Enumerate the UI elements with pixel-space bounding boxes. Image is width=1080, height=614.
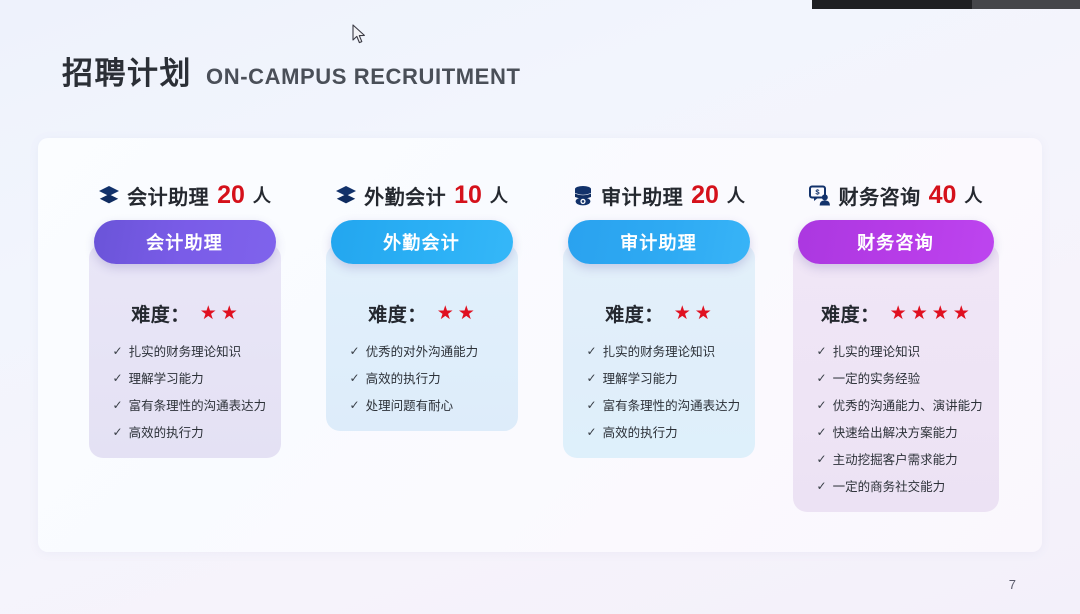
check-icon: ✓ bbox=[817, 398, 827, 413]
role-card[interactable]: 会计助理 难度： ★ ★ ✓ 扎实的财务理论知识 ✓ 理解学习能力 ✓ bbox=[89, 244, 281, 458]
column-heading-count: 40 bbox=[929, 181, 957, 210]
star-icon: ★ bbox=[890, 304, 907, 323]
star-icon: ★ bbox=[911, 304, 928, 323]
column-heading: $ 财务咨询 40 人 bbox=[809, 180, 983, 210]
check-icon: ✓ bbox=[113, 371, 123, 386]
role-card[interactable]: 外勤会计 难度： ★ ★ ✓ 优秀的对外沟通能力 ✓ 高效的执行力 ✓ bbox=[326, 244, 518, 431]
recruitment-columns: 会计助理 20 人 会计助理 难度： ★ ★ ✓ 扎实的财务理论知识 ✓ bbox=[38, 138, 1042, 552]
difficulty-stars: ★ ★ bbox=[437, 304, 475, 323]
list-item-label: 富有条理性的沟通表达力 bbox=[603, 398, 741, 413]
check-icon: ✓ bbox=[817, 479, 827, 494]
requirement-list: ✓ 扎实的财务理论知识 ✓ 理解学习能力 ✓ 富有条理性的沟通表达力 ✓ 高效的… bbox=[103, 344, 267, 442]
list-item-label: 优秀的对外沟通能力 bbox=[366, 344, 479, 359]
list-item-label: 一定的实务经验 bbox=[833, 371, 921, 386]
role-pill-badge[interactable]: 财务咨询 bbox=[798, 220, 994, 264]
list-item: ✓ 高效的执行力 bbox=[587, 425, 741, 440]
layers-stack-icon bbox=[335, 185, 357, 205]
list-item: ✓ 富有条理性的沟通表达力 bbox=[113, 398, 267, 413]
difficulty-row: 难度： ★ ★ ★ ★ bbox=[821, 300, 970, 326]
recruitment-column-finance-consulting[interactable]: $ 财务咨询 40 人 财务咨询 难度： ★ ★ ★ ★ bbox=[777, 138, 1014, 552]
role-pill-badge[interactable]: 审计助理 bbox=[568, 220, 750, 264]
star-icon: ★ bbox=[437, 304, 454, 323]
difficulty-label: 难度： bbox=[131, 300, 190, 327]
requirement-list: ✓ 扎实的财务理论知识 ✓ 理解学习能力 ✓ 富有条理性的沟通表达力 ✓ 高效的… bbox=[577, 344, 741, 442]
check-icon: ✓ bbox=[817, 425, 827, 440]
check-icon: ✓ bbox=[817, 452, 827, 467]
difficulty-stars: ★ ★ bbox=[674, 304, 712, 323]
list-item-label: 扎实的财务理论知识 bbox=[603, 344, 716, 359]
list-item-label: 理解学习能力 bbox=[603, 371, 678, 386]
difficulty-label: 难度： bbox=[821, 300, 880, 327]
star-icon: ★ bbox=[674, 304, 691, 323]
role-pill-badge[interactable]: 会计助理 bbox=[94, 220, 276, 264]
list-item: ✓ 理解学习能力 bbox=[113, 371, 267, 386]
list-item-label: 扎实的财务理论知识 bbox=[129, 344, 242, 359]
list-item: ✓ 高效的执行力 bbox=[113, 425, 267, 440]
list-item: ✓ 富有条理性的沟通表达力 bbox=[587, 398, 741, 413]
star-icon: ★ bbox=[932, 304, 949, 323]
column-heading-label: 审计助理 bbox=[601, 181, 683, 210]
window-chrome-strip bbox=[0, 0, 1080, 9]
mouse-cursor-icon bbox=[352, 24, 368, 46]
column-heading-unit: 人 bbox=[490, 182, 508, 208]
list-item-label: 高效的执行力 bbox=[129, 425, 204, 440]
list-item-label: 高效的执行力 bbox=[603, 425, 678, 440]
star-icon: ★ bbox=[953, 304, 970, 323]
check-icon: ✓ bbox=[817, 344, 827, 359]
list-item: ✓ 处理问题有耐心 bbox=[350, 398, 504, 413]
column-heading-count: 10 bbox=[454, 181, 482, 210]
recruitment-column-accounting-assistant[interactable]: 会计助理 20 人 会计助理 难度： ★ ★ ✓ 扎实的财务理论知识 ✓ bbox=[66, 138, 303, 552]
list-item-label: 一定的商务社交能力 bbox=[833, 479, 946, 494]
check-icon: ✓ bbox=[350, 344, 360, 359]
check-icon: ✓ bbox=[350, 398, 360, 413]
column-heading-unit: 人 bbox=[964, 182, 982, 208]
list-item: ✓ 扎实的财务理论知识 bbox=[113, 344, 267, 359]
difficulty-row: 难度： ★ ★ bbox=[131, 300, 238, 326]
star-icon: ★ bbox=[200, 304, 217, 323]
list-item: ✓ 一定的商务社交能力 bbox=[817, 479, 985, 494]
chrome-segment-dark bbox=[812, 0, 972, 9]
check-icon: ✓ bbox=[113, 425, 123, 440]
finance-consult-icon: $ bbox=[809, 185, 832, 206]
page-title-cn: 招聘计划 bbox=[62, 48, 192, 93]
page-number: 7 bbox=[1009, 577, 1016, 592]
column-heading-label: 会计助理 bbox=[127, 181, 209, 210]
requirement-list: ✓ 扎实的理论知识 ✓ 一定的实务经验 ✓ 优秀的沟通能力、演讲能力 ✓ 快速给… bbox=[807, 344, 985, 496]
check-icon: ✓ bbox=[113, 344, 123, 359]
recruitment-column-field-accountant[interactable]: 外勤会计 10 人 外勤会计 难度： ★ ★ ✓ 优秀的对外沟通能力 ✓ bbox=[303, 138, 540, 552]
layers-stack-icon bbox=[98, 185, 120, 205]
list-item: ✓ 一定的实务经验 bbox=[817, 371, 985, 386]
svg-text:$: $ bbox=[815, 187, 820, 196]
list-item-label: 处理问题有耐心 bbox=[366, 398, 454, 413]
list-item: ✓ 优秀的对外沟通能力 bbox=[350, 344, 504, 359]
column-heading-count: 20 bbox=[217, 181, 245, 210]
list-item: ✓ 主动挖掘客户需求能力 bbox=[817, 452, 985, 467]
role-pill-badge[interactable]: 外勤会计 bbox=[331, 220, 513, 264]
difficulty-stars: ★ ★ ★ ★ bbox=[890, 304, 970, 323]
list-item-label: 快速给出解决方案能力 bbox=[833, 425, 958, 440]
column-heading-label: 外勤会计 bbox=[364, 181, 446, 210]
list-item: ✓ 优秀的沟通能力、演讲能力 bbox=[817, 398, 985, 413]
column-heading: 会计助理 20 人 bbox=[98, 180, 271, 210]
column-heading-unit: 人 bbox=[727, 182, 745, 208]
star-icon: ★ bbox=[221, 304, 238, 323]
list-item-label: 理解学习能力 bbox=[129, 371, 204, 386]
check-icon: ✓ bbox=[587, 371, 597, 386]
difficulty-label: 难度： bbox=[368, 300, 427, 327]
check-icon: ✓ bbox=[587, 398, 597, 413]
list-item-label: 富有条理性的沟通表达力 bbox=[129, 398, 267, 413]
check-icon: ✓ bbox=[587, 425, 597, 440]
list-item-label: 高效的执行力 bbox=[366, 371, 441, 386]
column-heading-label: 财务咨询 bbox=[839, 181, 921, 210]
check-icon: ✓ bbox=[817, 371, 827, 386]
list-item: ✓ 快速给出解决方案能力 bbox=[817, 425, 985, 440]
role-card[interactable]: 审计助理 难度： ★ ★ ✓ 扎实的财务理论知识 ✓ 理解学习能力 ✓ bbox=[563, 244, 755, 458]
check-icon: ✓ bbox=[113, 398, 123, 413]
difficulty-row: 难度： ★ ★ bbox=[605, 300, 712, 326]
list-item: ✓ 理解学习能力 bbox=[587, 371, 741, 386]
page-title-en: ON-CAMPUS RECRUITMENT bbox=[206, 64, 520, 90]
recruitment-column-audit-assistant[interactable]: 审计助理 20 人 审计助理 难度： ★ ★ ✓ 扎实的财务理论知识 ✓ bbox=[540, 138, 777, 552]
list-item-label: 扎实的理论知识 bbox=[833, 344, 921, 359]
star-icon: ★ bbox=[458, 304, 475, 323]
column-heading-unit: 人 bbox=[253, 182, 271, 208]
requirement-list: ✓ 优秀的对外沟通能力 ✓ 高效的执行力 ✓ 处理问题有耐心 bbox=[340, 344, 504, 415]
star-icon: ★ bbox=[695, 304, 712, 323]
difficulty-stars: ★ ★ bbox=[200, 304, 238, 323]
list-item: ✓ 扎实的理论知识 bbox=[817, 344, 985, 359]
column-heading: 外勤会计 10 人 bbox=[335, 180, 508, 210]
check-icon: ✓ bbox=[350, 371, 360, 386]
list-item-label: 优秀的沟通能力、演讲能力 bbox=[833, 398, 983, 413]
column-heading: 审计助理 20 人 bbox=[572, 180, 745, 210]
check-icon: ✓ bbox=[587, 344, 597, 359]
chrome-segment-gray bbox=[972, 0, 1080, 9]
role-card[interactable]: 财务咨询 难度： ★ ★ ★ ★ ✓ 扎实的理论知识 ✓ 一定的实务经验 bbox=[793, 244, 999, 512]
list-item: ✓ 扎实的财务理论知识 bbox=[587, 344, 741, 359]
list-item-label: 主动挖掘客户需求能力 bbox=[833, 452, 958, 467]
difficulty-label: 难度： bbox=[605, 300, 664, 327]
page-title: 招聘计划 ON-CAMPUS RECRUITMENT bbox=[62, 48, 520, 93]
list-item: ✓ 高效的执行力 bbox=[350, 371, 504, 386]
difficulty-row: 难度： ★ ★ bbox=[368, 300, 475, 326]
column-heading-count: 20 bbox=[691, 181, 719, 210]
database-audit-icon bbox=[572, 185, 594, 206]
